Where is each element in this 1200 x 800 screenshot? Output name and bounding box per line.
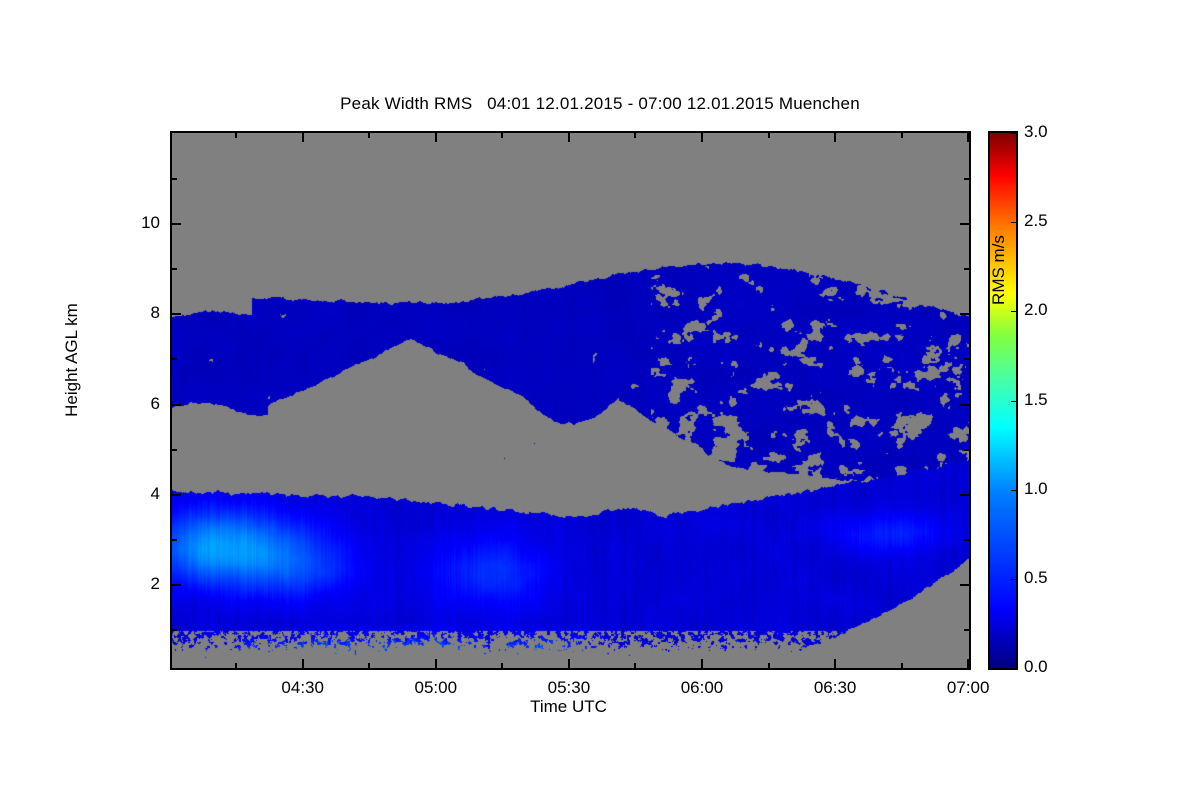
x-tick-major-top [701, 133, 703, 142]
y-tick-label: 10 [100, 213, 160, 233]
colorbar-tick-label: 3.0 [1024, 122, 1048, 142]
y-tick-major [172, 494, 181, 496]
x-tick-minor [634, 133, 636, 138]
y-tick-minor [172, 178, 177, 180]
y-tick-major-right [960, 494, 969, 496]
x-tick-minor [634, 663, 636, 668]
x-tick-major-top [435, 133, 437, 142]
y-tick-label: 2 [100, 574, 160, 594]
x-tick-major [701, 659, 703, 668]
x-tick-label: 04:30 [248, 678, 358, 698]
x-tick-label: 05:00 [381, 678, 491, 698]
y-tick-minor [172, 268, 177, 270]
colorbar-tick-label: 0.0 [1024, 657, 1048, 677]
y-tick-major [172, 313, 181, 315]
y-tick-minor-right [964, 449, 969, 451]
x-tick-minor [501, 133, 503, 138]
y-tick-major [172, 404, 181, 406]
x-tick-minor [901, 663, 903, 668]
colorbar-tick [1011, 490, 1016, 491]
x-tick-label: 06:00 [647, 678, 757, 698]
y-tick-major [172, 584, 181, 586]
y-tick-minor-right [964, 358, 969, 360]
colorbar-tick-label: 1.5 [1024, 390, 1048, 410]
heatmap-image [172, 133, 969, 668]
page-title: Peak Width RMS 04:01 12.01.2015 - 07:00 … [0, 94, 1200, 114]
x-tick-major [302, 659, 304, 668]
colorbar-tick [1011, 579, 1016, 580]
y-tick-major [172, 223, 181, 225]
x-tick-major-top [568, 133, 570, 142]
x-tick-label: 06:30 [780, 678, 890, 698]
colorbar-tick-label: 1.0 [1024, 479, 1048, 499]
x-tick-minor [901, 133, 903, 138]
y-tick-major-right [960, 223, 969, 225]
heatmap-plot-area[interactable] [170, 131, 971, 670]
colorbar-label: RMS m/s [989, 170, 1009, 370]
y-tick-minor-right [964, 178, 969, 180]
y-tick-label: 8 [100, 303, 160, 323]
colorbar-tick-label: 2.0 [1024, 300, 1048, 320]
x-tick-label: 07:00 [913, 678, 1023, 698]
y-tick-major-right [960, 404, 969, 406]
y-tick-label: 4 [100, 484, 160, 504]
y-tick-minor-right [964, 629, 969, 631]
y-tick-minor [172, 629, 177, 631]
y-tick-label: 6 [100, 394, 160, 414]
colorbar-tick-label: 0.5 [1024, 568, 1048, 588]
y-tick-minor [172, 539, 177, 541]
colorbar-tick [1011, 401, 1016, 402]
x-tick-major [568, 659, 570, 668]
colorbar-tick [1011, 222, 1016, 223]
x-tick-minor [768, 663, 770, 668]
y-tick-minor-right [964, 539, 969, 541]
x-tick-minor [368, 133, 370, 138]
figure-canvas: Peak Width RMS 04:01 12.01.2015 - 07:00 … [0, 0, 1200, 800]
x-tick-major-top [834, 133, 836, 142]
colorbar-tick-label: 2.5 [1024, 211, 1048, 231]
x-tick-major [435, 659, 437, 668]
y-tick-minor-right [964, 268, 969, 270]
x-tick-label: 05:30 [514, 678, 624, 698]
colorbar-tick [1011, 311, 1016, 312]
y-tick-minor [172, 358, 177, 360]
x-tick-major-top [967, 133, 969, 142]
y-tick-major-right [960, 313, 969, 315]
y-tick-minor [172, 449, 177, 451]
x-tick-minor [501, 663, 503, 668]
colorbar-tick [1011, 133, 1016, 134]
x-tick-minor [235, 133, 237, 138]
y-tick-major-right [960, 584, 969, 586]
x-tick-major [834, 659, 836, 668]
x-tick-minor [368, 663, 370, 668]
y-axis-label: Height AGL km [62, 240, 82, 480]
x-tick-major [967, 659, 969, 668]
x-tick-minor [235, 663, 237, 668]
colorbar-tick [1011, 668, 1016, 669]
x-tick-major-top [302, 133, 304, 142]
x-axis-label: Time UTC [170, 697, 967, 717]
x-tick-minor [768, 133, 770, 138]
